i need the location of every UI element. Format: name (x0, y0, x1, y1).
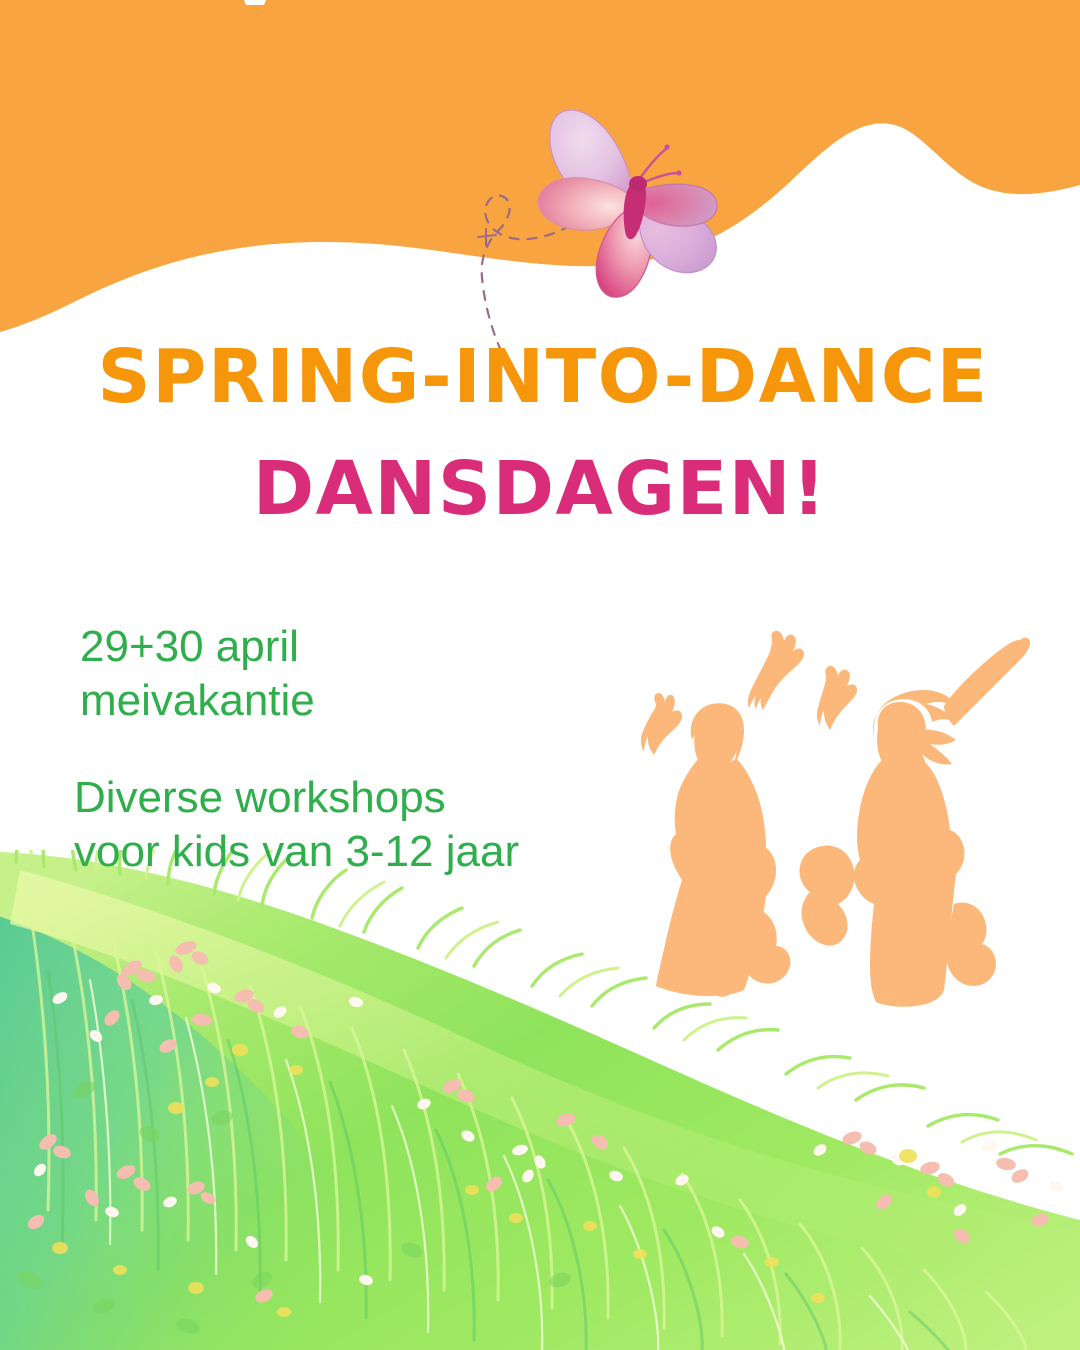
kid-left-leg-back (741, 907, 790, 983)
kid-right-head (877, 702, 926, 769)
kid-left-arm-left (641, 693, 682, 755)
headline-line-1: SPRING-INTO-DANCE (0, 340, 1080, 414)
spring-grass-meadow (0, 850, 1080, 1350)
meadow-hill-body (0, 852, 1080, 1350)
description-line-1: Diverse workshops (74, 771, 519, 825)
date-line-2: meivakantie (80, 674, 519, 728)
kid-right-torso (854, 756, 965, 1007)
kid-right-leg-right (946, 902, 996, 986)
meadow-grass-strokes-dark (48, 970, 948, 1350)
meadow-teal-shading (0, 910, 420, 1350)
description-line-2: voor kids van 3-12 jaar (74, 825, 519, 879)
meadow-blade-tips-pale (27, 850, 1036, 1142)
kid-right-hair (873, 690, 958, 738)
description-block: Diverse workshops voor kids van 3-12 jaa… (74, 771, 519, 878)
kid-left-leg-front (708, 944, 740, 997)
kid-left-torso (656, 758, 776, 996)
kid-left-head (694, 704, 740, 770)
info-text-block: 29+30 april meivakantie Diverse workshop… (74, 620, 519, 879)
kid-right-leg-left (799, 845, 854, 945)
meadow-light-sheen (10, 870, 1080, 1290)
kid-left-hair (691, 703, 744, 764)
meadow-blade-tips (16, 850, 1072, 1154)
meadow-grass-strokes-light (30, 910, 1026, 1350)
date-block: 29+30 april meivakantie (80, 620, 519, 727)
kid-right-arm-right (944, 638, 1030, 726)
poster-canvas: SPRING-INTO-DANCE DANSDAGEN! 29+30 april… (0, 0, 1080, 1350)
orange-wave-band (0, 0, 1080, 340)
kid-right-hair-strands (911, 729, 956, 778)
headline-line-2: DANSDAGEN! (0, 452, 1080, 526)
meadow-grass-highlights (90, 980, 908, 1350)
date-line-1: 29+30 april (80, 620, 519, 674)
jumping-kids-silhouette (620, 618, 1060, 1020)
kid-left-silhouette (748, 631, 804, 710)
page-title: SPRING-INTO-DANCE DANSDAGEN! (0, 340, 1080, 526)
orange-wave-shape (0, 0, 1080, 332)
meadow-flowers (15, 938, 1065, 1336)
kid-right-arm-left (817, 666, 857, 730)
